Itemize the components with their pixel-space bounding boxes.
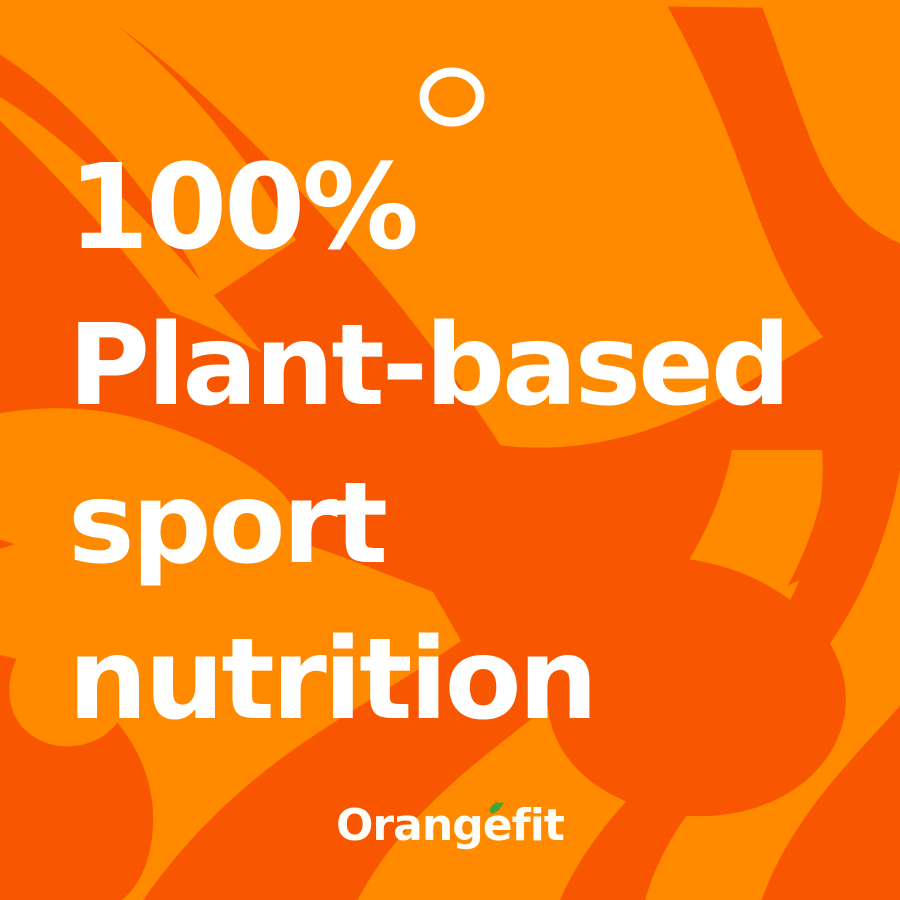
wordmark-inner: Orangefit <box>336 804 564 848</box>
headline-line-sport: sport <box>68 468 868 580</box>
circle-ring-icon <box>416 66 488 128</box>
headline-line-percent: 100% <box>68 148 860 266</box>
headline-block: 100% Plant-based sport nutrition <box>68 148 868 736</box>
leaf-icon <box>489 801 505 815</box>
headline-line-plant-based: Plant-based <box>68 310 868 422</box>
promo-poster: 100% Plant-based sport nutrition Orangef… <box>0 0 900 900</box>
headline-line-nutrition: nutrition <box>68 624 868 736</box>
brand-wordmark: Orangefit <box>0 798 900 854</box>
wordmark-text: Orangefit <box>336 800 564 851</box>
